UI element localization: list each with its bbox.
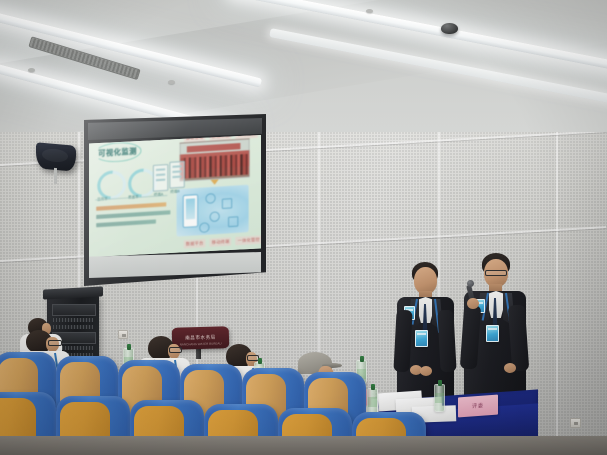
slide-phone-icon [183, 194, 198, 228]
name-card-text: 评委 [472, 402, 484, 410]
slide-node-icon [205, 193, 215, 204]
slide-diagram-panel [177, 185, 249, 237]
presentation-slide: 可视化监测 智慧管理 数据采集 实时预警 [89, 135, 261, 257]
presenter-speaking-right [462, 253, 528, 413]
arm-right [437, 310, 456, 373]
hand-right [420, 366, 432, 376]
water-bottle-1[interactable] [434, 384, 445, 412]
rack-panel [52, 304, 96, 316]
head [414, 267, 437, 294]
eyeglasses [485, 270, 507, 276]
slide-body-line [96, 219, 156, 226]
slide-tag: 数据平台 [184, 239, 206, 249]
hand-right [504, 363, 516, 373]
slide-node-icon [199, 222, 209, 233]
smoke-detector [366, 9, 373, 13]
wall-outlet[interactable] [570, 418, 581, 428]
slide-arrow-icon [211, 179, 219, 185]
slide-tag: 移动终端 [210, 237, 232, 247]
slide-body-line [96, 210, 170, 218]
rack-top-device [43, 286, 103, 299]
screen-canvas: 可视化监测 智慧管理 数据采集 实时预警 [89, 135, 261, 257]
eyeglasses [48, 340, 62, 346]
hand-holding-mic [467, 298, 479, 309]
slide-body-line [96, 202, 166, 210]
eyeglasses [169, 347, 182, 353]
slide-card-2 [169, 161, 184, 189]
photo-crowd [181, 154, 249, 179]
wall-outlet[interactable] [118, 330, 128, 339]
name-card-right: 评委 [458, 395, 498, 418]
conference-room-photo: 可视化监测 智慧管理 数据采集 实时预警 [0, 0, 607, 455]
slide-node-icon [210, 211, 220, 222]
photo-banner [187, 143, 241, 153]
slide-card-1 [153, 164, 168, 192]
presenter-standing-left [394, 262, 456, 412]
slide-node-icon [222, 198, 232, 209]
slide-group-photo [180, 138, 250, 182]
projection-screen[interactable]: 可视化监测 智慧管理 数据采集 实时预警 [84, 114, 266, 286]
slide-tag: 一体化管控 [236, 235, 261, 245]
slide-node-icon [228, 216, 238, 227]
ceiling [0, 0, 607, 132]
speaker-bracket [54, 168, 57, 184]
microphone-head [467, 280, 474, 287]
smoke-detector [168, 80, 175, 84]
slide-card-label: 终端B [170, 188, 179, 194]
slide-bottom-tags: 数据平台 移动终端 一体化管控 [184, 235, 261, 248]
arm-left [393, 310, 412, 373]
conference-badge [415, 330, 428, 347]
smoke-detector [28, 68, 35, 72]
ceiling-speaker-dome [441, 23, 458, 34]
floor [0, 436, 607, 455]
conference-badge [486, 325, 499, 342]
arm-right [508, 304, 530, 371]
